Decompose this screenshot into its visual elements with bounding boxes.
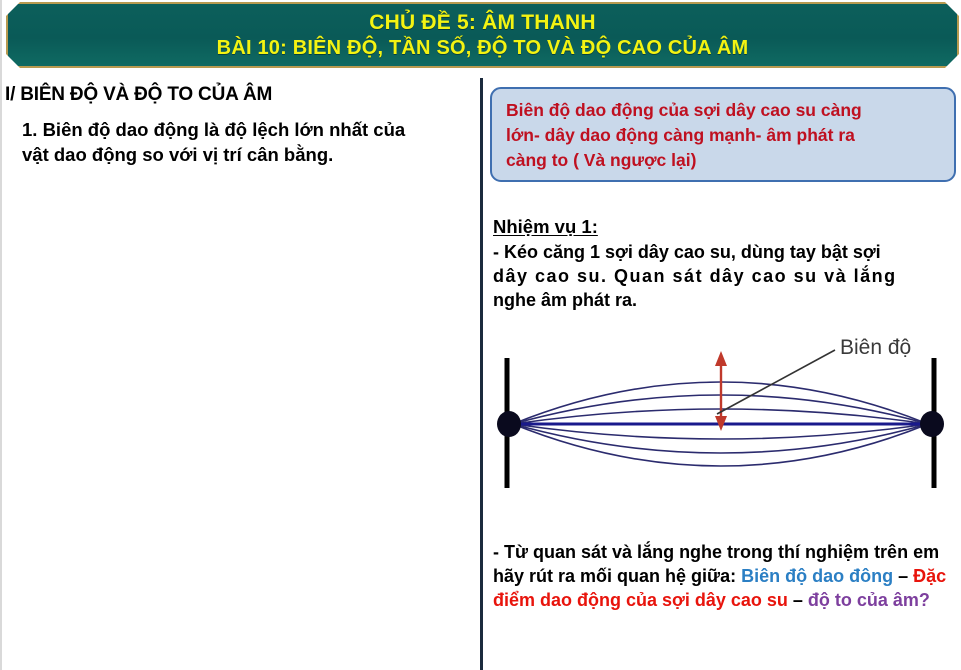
callout-line-3: càng to ( Và ngược lại) bbox=[506, 148, 944, 173]
vibrating-string-diagram: Biên độ bbox=[483, 336, 961, 521]
task-line-3: nghe âm phát ra. bbox=[493, 289, 961, 313]
amplitude-label: Biên độ bbox=[840, 336, 911, 359]
definition-line-2: vật dao động so với vị trí cân bằng. bbox=[10, 143, 476, 168]
string-arc-down-3 bbox=[513, 424, 928, 466]
question-seg-1: - Từ quan sát và lắng nghe trong thí ngh… bbox=[493, 542, 869, 562]
left-content-panel: I/ BIÊN ĐỘ VÀ ĐỘ TO CỦA ÂM 1. Biên độ da… bbox=[2, 78, 478, 670]
discussion-question: - Từ quan sát và lắng nghe trong thí ngh… bbox=[493, 541, 961, 613]
left-anchor-dot bbox=[497, 411, 521, 437]
definition-paragraph: 1. Biên độ dao động là độ lệch lớn nhất … bbox=[10, 118, 476, 168]
question-seg-9: độ to của âm? bbox=[808, 590, 930, 610]
slide-root: CHỦ ĐỀ 5: ÂM THANH BÀI 10: BIÊN ĐỘ, TẦN … bbox=[0, 0, 961, 670]
banner-title-line-1: CHỦ ĐỀ 5: ÂM THANH bbox=[369, 11, 595, 35]
banner-shape: CHỦ ĐỀ 5: ÂM THANH BÀI 10: BIÊN ĐỘ, TẦN … bbox=[6, 2, 959, 68]
conclusion-callout-box: Biên độ dao động của sợi dây cao su càng… bbox=[490, 87, 956, 182]
task-line-2: dây cao su. Quan sát dây cao su và lắng bbox=[493, 265, 961, 289]
task-title: Nhiệm vụ 1: bbox=[493, 216, 598, 238]
task-line-1: - Kéo căng 1 sợi dây cao su, dùng tay bậ… bbox=[493, 241, 961, 265]
amplitude-arrow bbox=[715, 351, 727, 431]
question-seg-7: cao su bbox=[731, 590, 788, 610]
banner-title-line-2: BÀI 10: BIÊN ĐỘ, TẦN SỐ, ĐỘ TO VÀ ĐỘ CAO… bbox=[217, 37, 749, 59]
task-body: - Kéo căng 1 sợi dây cao su, dùng tay bậ… bbox=[493, 241, 961, 313]
question-seg-8: – bbox=[788, 590, 808, 610]
question-seg-4: dao đông bbox=[812, 566, 893, 586]
right-anchor-dot bbox=[920, 411, 944, 437]
callout-line-1: Biên độ dao động của sợi dây cao su càng bbox=[506, 98, 944, 123]
section-heading: I/ BIÊN ĐỘ VÀ ĐỘ TO CỦA ÂM bbox=[5, 84, 475, 106]
right-content-panel: Biên độ dao động của sợi dây cao su càng… bbox=[483, 78, 961, 670]
question-seg-5: – bbox=[893, 566, 913, 586]
task-block: Nhiệm vụ 1: - Kéo căng 1 sợi dây cao su,… bbox=[493, 216, 961, 313]
callout-line-2: lớn- dây dao động càng mạnh- âm phát ra bbox=[506, 123, 944, 148]
title-banner: CHỦ ĐỀ 5: ÂM THANH BÀI 10: BIÊN ĐỘ, TẦN … bbox=[2, 2, 961, 70]
definition-line-1: 1. Biên độ dao động là độ lệch lớn nhất … bbox=[10, 118, 476, 143]
question-seg-3: Biên độ bbox=[741, 566, 807, 586]
